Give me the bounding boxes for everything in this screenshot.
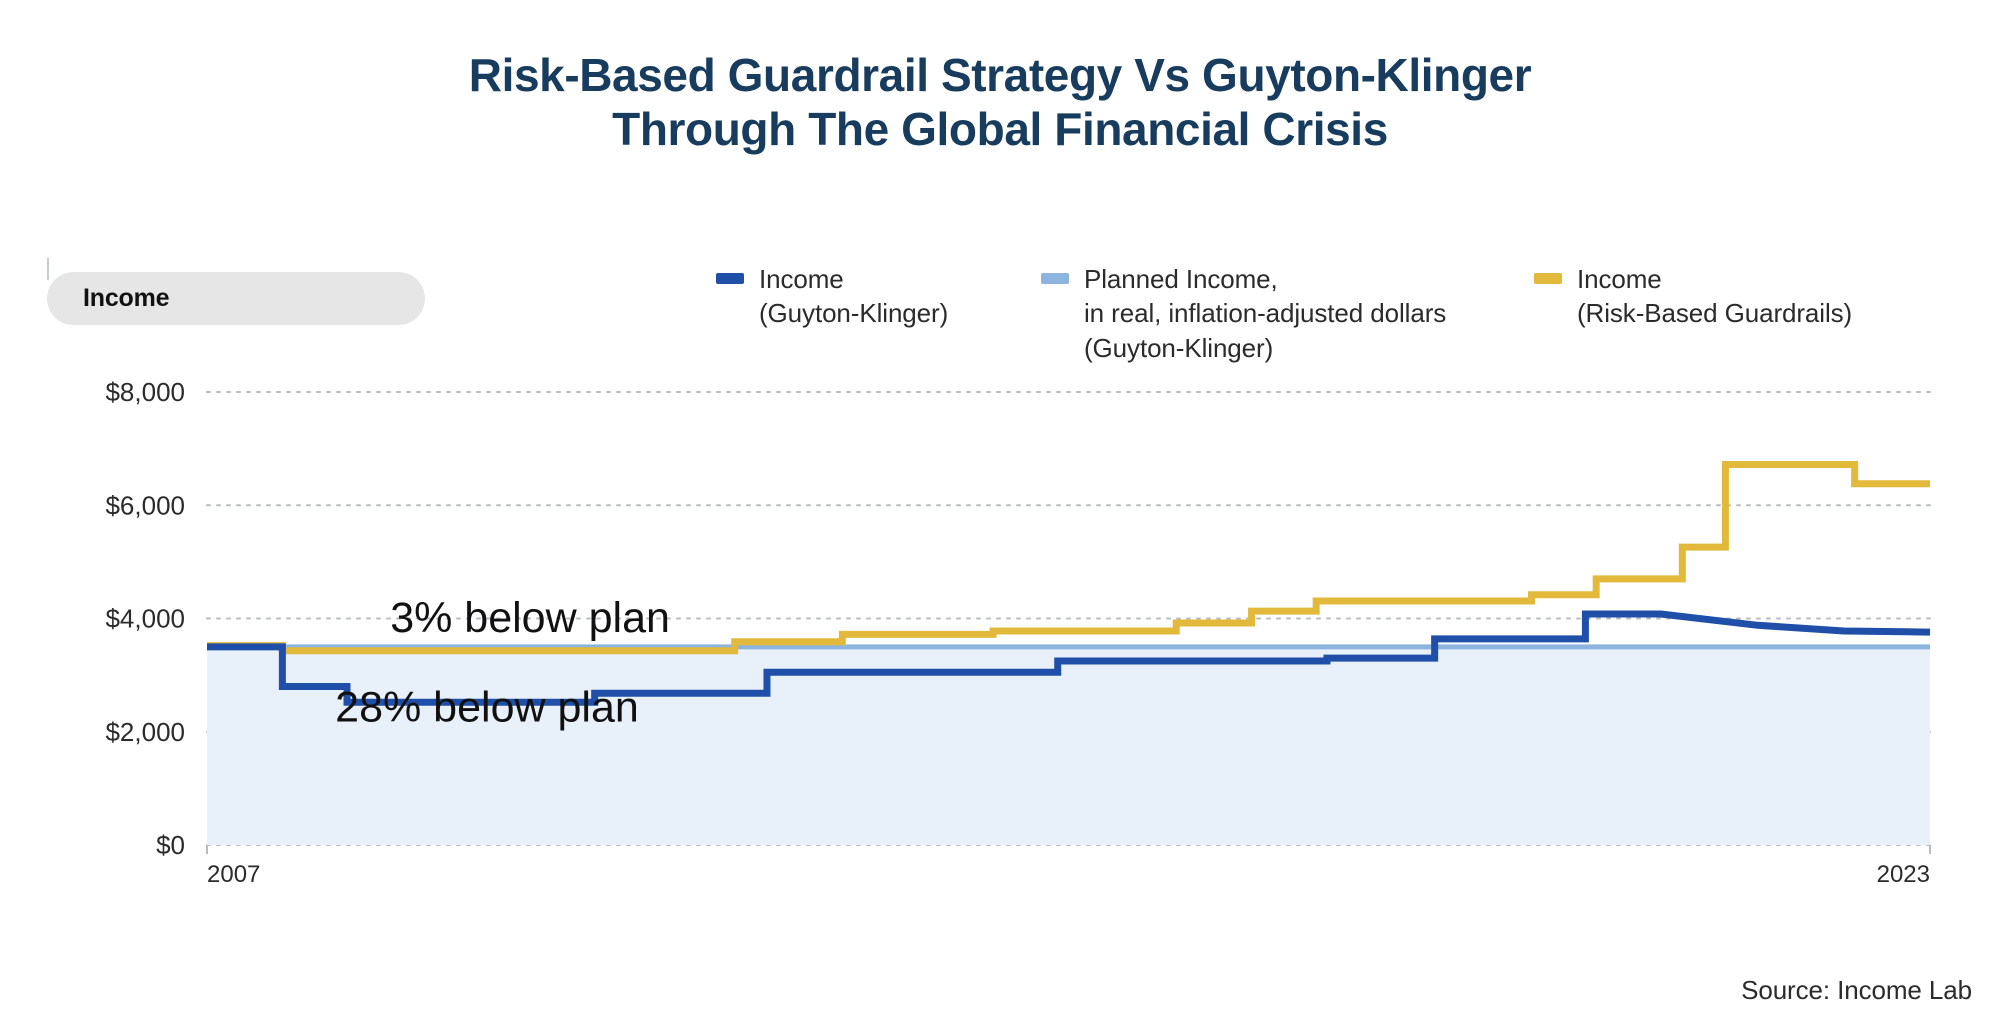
source-note: Source: Income Lab [1741,975,1972,1006]
svg-text:$2,000: $2,000 [105,717,185,747]
chart-plot-area: $0$2,000$4,000$6,000$8,000 20072023 3% b… [0,0,2000,1030]
chart-annotation-1: 28% below plan [335,684,639,732]
svg-text:$0: $0 [156,830,185,860]
svg-text:$8,000: $8,000 [105,377,185,407]
svg-text:2023: 2023 [1877,861,1930,888]
planned-income-fill [207,647,1930,845]
chart-annotation-0: 3% below plan [390,594,670,642]
x-axis-tick-labels: 20072023 [207,845,1930,888]
y-axis-tick-labels: $0$2,000$4,000$6,000$8,000 [105,377,185,860]
svg-text:$6,000: $6,000 [105,490,185,520]
line-chart-svg: $0$2,000$4,000$6,000$8,000 20072023 3% b… [0,0,2000,1030]
svg-text:$4,000: $4,000 [105,604,185,634]
svg-text:2007: 2007 [207,861,260,888]
